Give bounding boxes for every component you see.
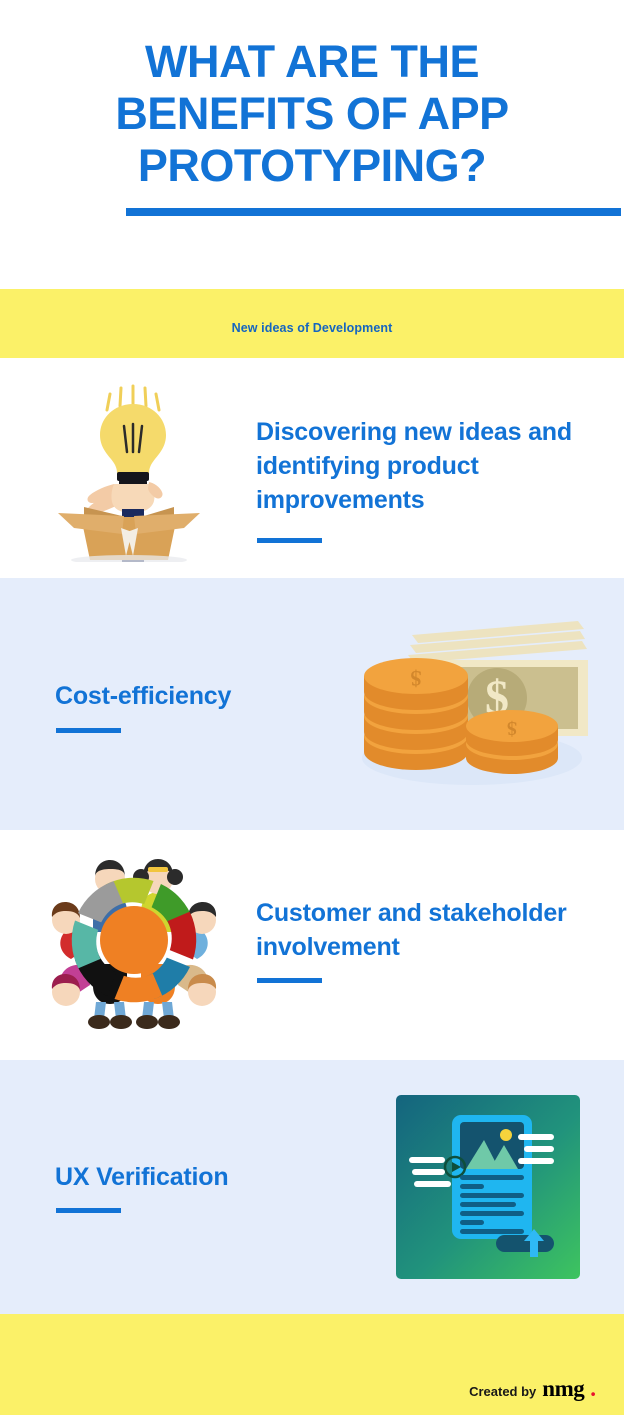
section-ux-verification-accent	[56, 1208, 121, 1213]
section-cost-efficiency-label: Cost-efficiency	[55, 679, 335, 713]
section-new-ideas: Discovering new ideas and identifying pr…	[0, 358, 624, 578]
page-title-line-2: BENEFITS OF APP	[62, 88, 562, 140]
footer: Created by nmg .	[0, 1314, 624, 1415]
nmg-logo-dot: .	[590, 1376, 596, 1402]
lightbulb-in-box-icon	[48, 376, 210, 562]
title-underline-rule	[126, 208, 621, 216]
section-customer-involvement-accent	[257, 978, 322, 983]
section-new-ideas-label: Discovering new ideas and identifying pr…	[256, 415, 586, 517]
section-ux-verification-label: UX Verification	[55, 1160, 335, 1194]
section-customer-involvement: Customer and stakeholder involvement	[0, 830, 624, 1060]
page-title-line-1: WHAT ARE THE	[62, 36, 562, 88]
svg-text:$: $	[411, 666, 422, 691]
section-ux-verification: UX Verification	[0, 1060, 624, 1314]
credit-prefix-label: Created by	[469, 1384, 536, 1399]
section-customer-involvement-label: Customer and stakeholder involvement	[256, 896, 596, 964]
subtitle-banner-label: New ideas of Development	[232, 321, 393, 335]
people-circle-icon	[38, 844, 230, 1034]
svg-text:$: $	[507, 717, 517, 739]
page-title: WHAT ARE THE BENEFITS OF APP PROTOTYPING…	[62, 36, 562, 192]
document-review-icon	[396, 1095, 580, 1279]
page-title-line-3: PROTOTYPING?	[62, 140, 562, 192]
header: WHAT ARE THE BENEFITS OF APP PROTOTYPING…	[0, 0, 624, 289]
subtitle-banner: New ideas of Development	[0, 289, 624, 358]
credit-block: Created by nmg .	[469, 1376, 596, 1402]
section-cost-efficiency: Cost-efficiency $	[0, 578, 624, 830]
section-new-ideas-accent	[257, 538, 322, 543]
nmg-logo: nmg	[542, 1376, 584, 1402]
money-coins-icon: $ $	[340, 612, 592, 794]
infographic-page: WHAT ARE THE BENEFITS OF APP PROTOTYPING…	[0, 0, 624, 1415]
section-cost-efficiency-accent	[56, 728, 121, 733]
